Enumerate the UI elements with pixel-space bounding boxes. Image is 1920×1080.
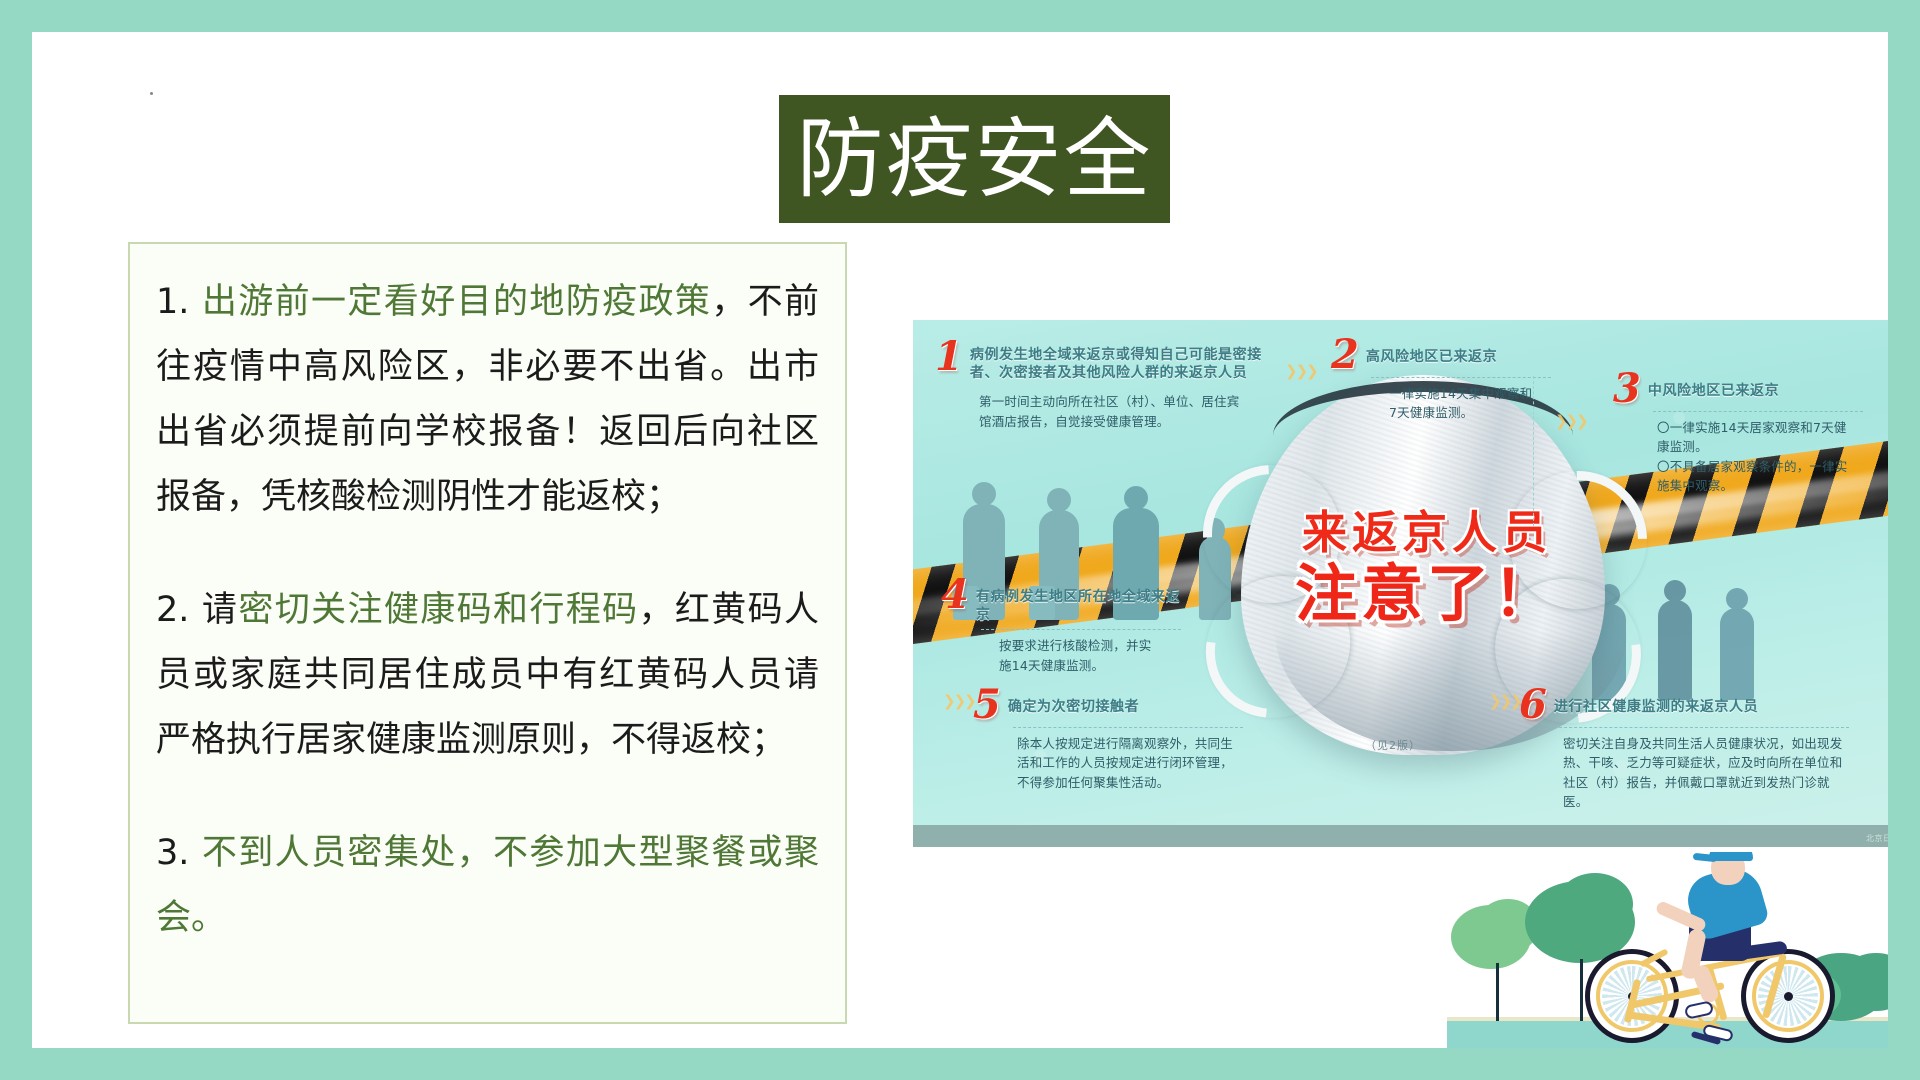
paragraph-1-highlight: 出游前一定看好目的地防疫政策 [202,282,711,322]
poster-item-2-body: 一律实施14天集中观察和7天健康监测。 [1389,384,1539,423]
page-title-banner: 防疫安全 [779,95,1170,223]
poster-divider [1533,376,1534,526]
poster-item-5-title: 确定为次密切接触者 [1008,688,1139,716]
paragraph-3-number: 3. [156,833,189,873]
poster-item-5-body: 除本人按规定进行隔离观察外，共同生活和工作的人员按规定进行闭环管理，不得参加任何… [1017,734,1243,792]
cyclist-illustration [1447,852,1888,1048]
poster-item-5-number: 5 [973,688,1001,722]
poster-bottom-bar [913,825,1888,847]
poster-item-2-title: 高风险地区已来返京 [1366,338,1497,366]
slide-canvas: 防疫安全 1. 出游前一定看好目的地防疫政策，不前往疫情中高风险区，非必要不出省… [32,32,1888,1048]
poster-item-3-number: 3 [1613,372,1641,406]
rider-cap-brim [1693,853,1718,862]
bicycle-wheel-front [1741,949,1835,1043]
poster-item-6-number: 6 [1519,688,1547,722]
chevron-right-icon: ❯❯❯ [1489,692,1521,710]
poster-item-6-title: 进行社区健康监测的来返京人员 [1554,688,1758,716]
stray-dot-artifact [150,92,153,95]
poster-item-6-body: 密切关注自身及共同生活人员健康状况，如出现发热、干咳、乏力等可疑症状，应及时向所… [1563,734,1849,812]
poster-item-5: 5 确定为次密切接触者 除本人按规定进行隔离观察外，共同生活和工作的人员按规定进… [973,688,1243,792]
poster-item-3: 3 中风险地区已来返京 〇一律实施14天居家观察和7天健康监测。 〇不具备居家观… [1613,372,1863,496]
page-title: 防疫安全 [797,116,1153,203]
poster-item-6: 6 进行社区健康监测的来返京人员 密切关注自身及共同生活人员健康状况，如出现发热… [1519,688,1849,812]
poster-item-4: 4 有病例发生地区所在地全域来返京 按要求进行核酸检测，并实施14天健康监测。 [941,578,1181,675]
chevron-right-icon: ❯❯❯ [1555,412,1587,430]
bicycle-and-rider [1585,923,1835,1043]
covid-poster-image: （见2版） 来返京人员 注意了！ 1 病例发生地全域来返京或得知自己可能是密接者… [913,320,1888,847]
guidance-text-panel: 1. 出游前一定看好目的地防疫政策，不前往疫情中高风险区，非必要不出省。出市出省… [128,242,847,1024]
poster-item-2-number: 2 [1331,338,1359,372]
poster-item-4-body: 按要求进行核酸检测，并实施14天健康监测。 [999,636,1159,675]
paragraph-2-highlight: 密切关注健康码和行程码 [238,590,638,630]
poster-item-4-number: 4 [941,578,969,612]
paragraph-2-number: 2. [156,590,189,630]
poster-page-note: （见2版） [1365,737,1421,753]
paragraph-3-highlight: 不到人员密集处，不参加大型聚餐或聚会。 [156,833,819,938]
paragraph-2-lead: 请 [202,590,238,630]
poster-item-4-title: 有病例发生地区所在地全域来返京 [976,578,1181,624]
slide-root: 防疫安全 1. 出游前一定看好目的地防疫政策，不前往疫情中高风险区，非必要不出省… [0,0,1920,1080]
poster-item-1-title: 病例发生地全域来返京或得知自己可能是密接者、次密接者及其他风险人群的来返京人员 [970,340,1265,382]
guidance-paragraph-2: 2. 请密切关注健康码和行程码，红黄码人员或家庭共同居住成员中有红黄码人员请严格… [156,578,819,773]
poster-item-1: 1 病例发生地全域来返京或得知自己可能是密接者、次密接者及其他风险人群的来返京人… [935,340,1265,431]
poster-item-3-body: 〇一律实施14天居家观察和7天健康监测。 〇不具备居家观察条件的，一律实施集中观… [1657,418,1853,496]
poster-item-1-number: 1 [935,340,963,374]
chevron-right-icon: ❯❯❯ [943,692,975,710]
paragraph-1-number: 1. [156,282,189,322]
chevron-right-icon: ❯❯❯ [1285,362,1317,380]
guidance-paragraph-3: 3. 不到人员密集处，不参加大型聚餐或聚会。 [156,821,819,951]
poster-item-2: 2 高风险地区已来返京 一律实施14天集中观察和7天健康监测。 [1331,338,1551,423]
poster-item-3-title: 中风险地区已来返京 [1648,372,1779,400]
guidance-paragraph-1: 1. 出游前一定看好目的地防疫政策，不前往疫情中高风险区，非必要不出省。出市出省… [156,270,819,530]
poster-item-1-body: 第一时间主动向所在社区（村）、单位、居住宾馆酒店报告，自觉接受健康管理。 [979,392,1247,431]
poster-credit: 北京日报 [1866,833,1888,844]
